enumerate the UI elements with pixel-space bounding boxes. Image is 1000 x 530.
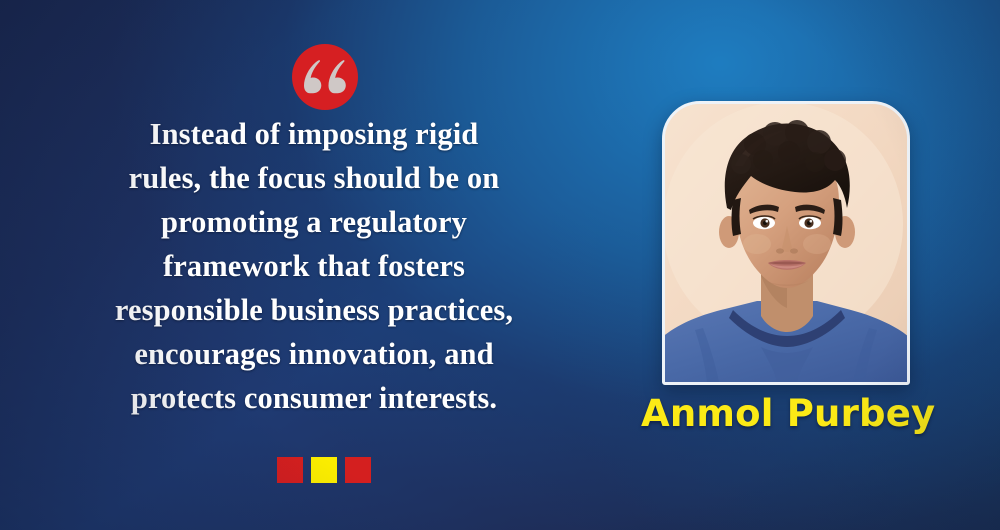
quote-line: promoting a regulatory <box>60 200 568 244</box>
quote-text: Instead of imposing rigid rules, the foc… <box>60 112 568 420</box>
portrait-frame <box>662 101 910 385</box>
portrait-photo <box>665 104 907 382</box>
accent-squares <box>277 457 371 483</box>
quote-line: framework that fosters <box>60 244 568 288</box>
quote-line: encourages innovation, and <box>60 332 568 376</box>
quote-line: protects consumer interests. <box>60 376 568 420</box>
square-red-left <box>277 457 303 483</box>
quotation-mark-badge <box>292 44 358 110</box>
quote-line: rules, the focus should be on <box>60 156 568 200</box>
quote-line: responsible business practices, <box>60 288 568 332</box>
person-name: Anmol Purbey <box>641 392 941 436</box>
quotation-mark-icon <box>304 60 346 94</box>
quote-line: Instead of imposing rigid <box>60 112 568 156</box>
square-yellow-center <box>311 457 337 483</box>
square-red-right <box>345 457 371 483</box>
quote-card: Instead of imposing rigid rules, the foc… <box>0 0 1000 530</box>
